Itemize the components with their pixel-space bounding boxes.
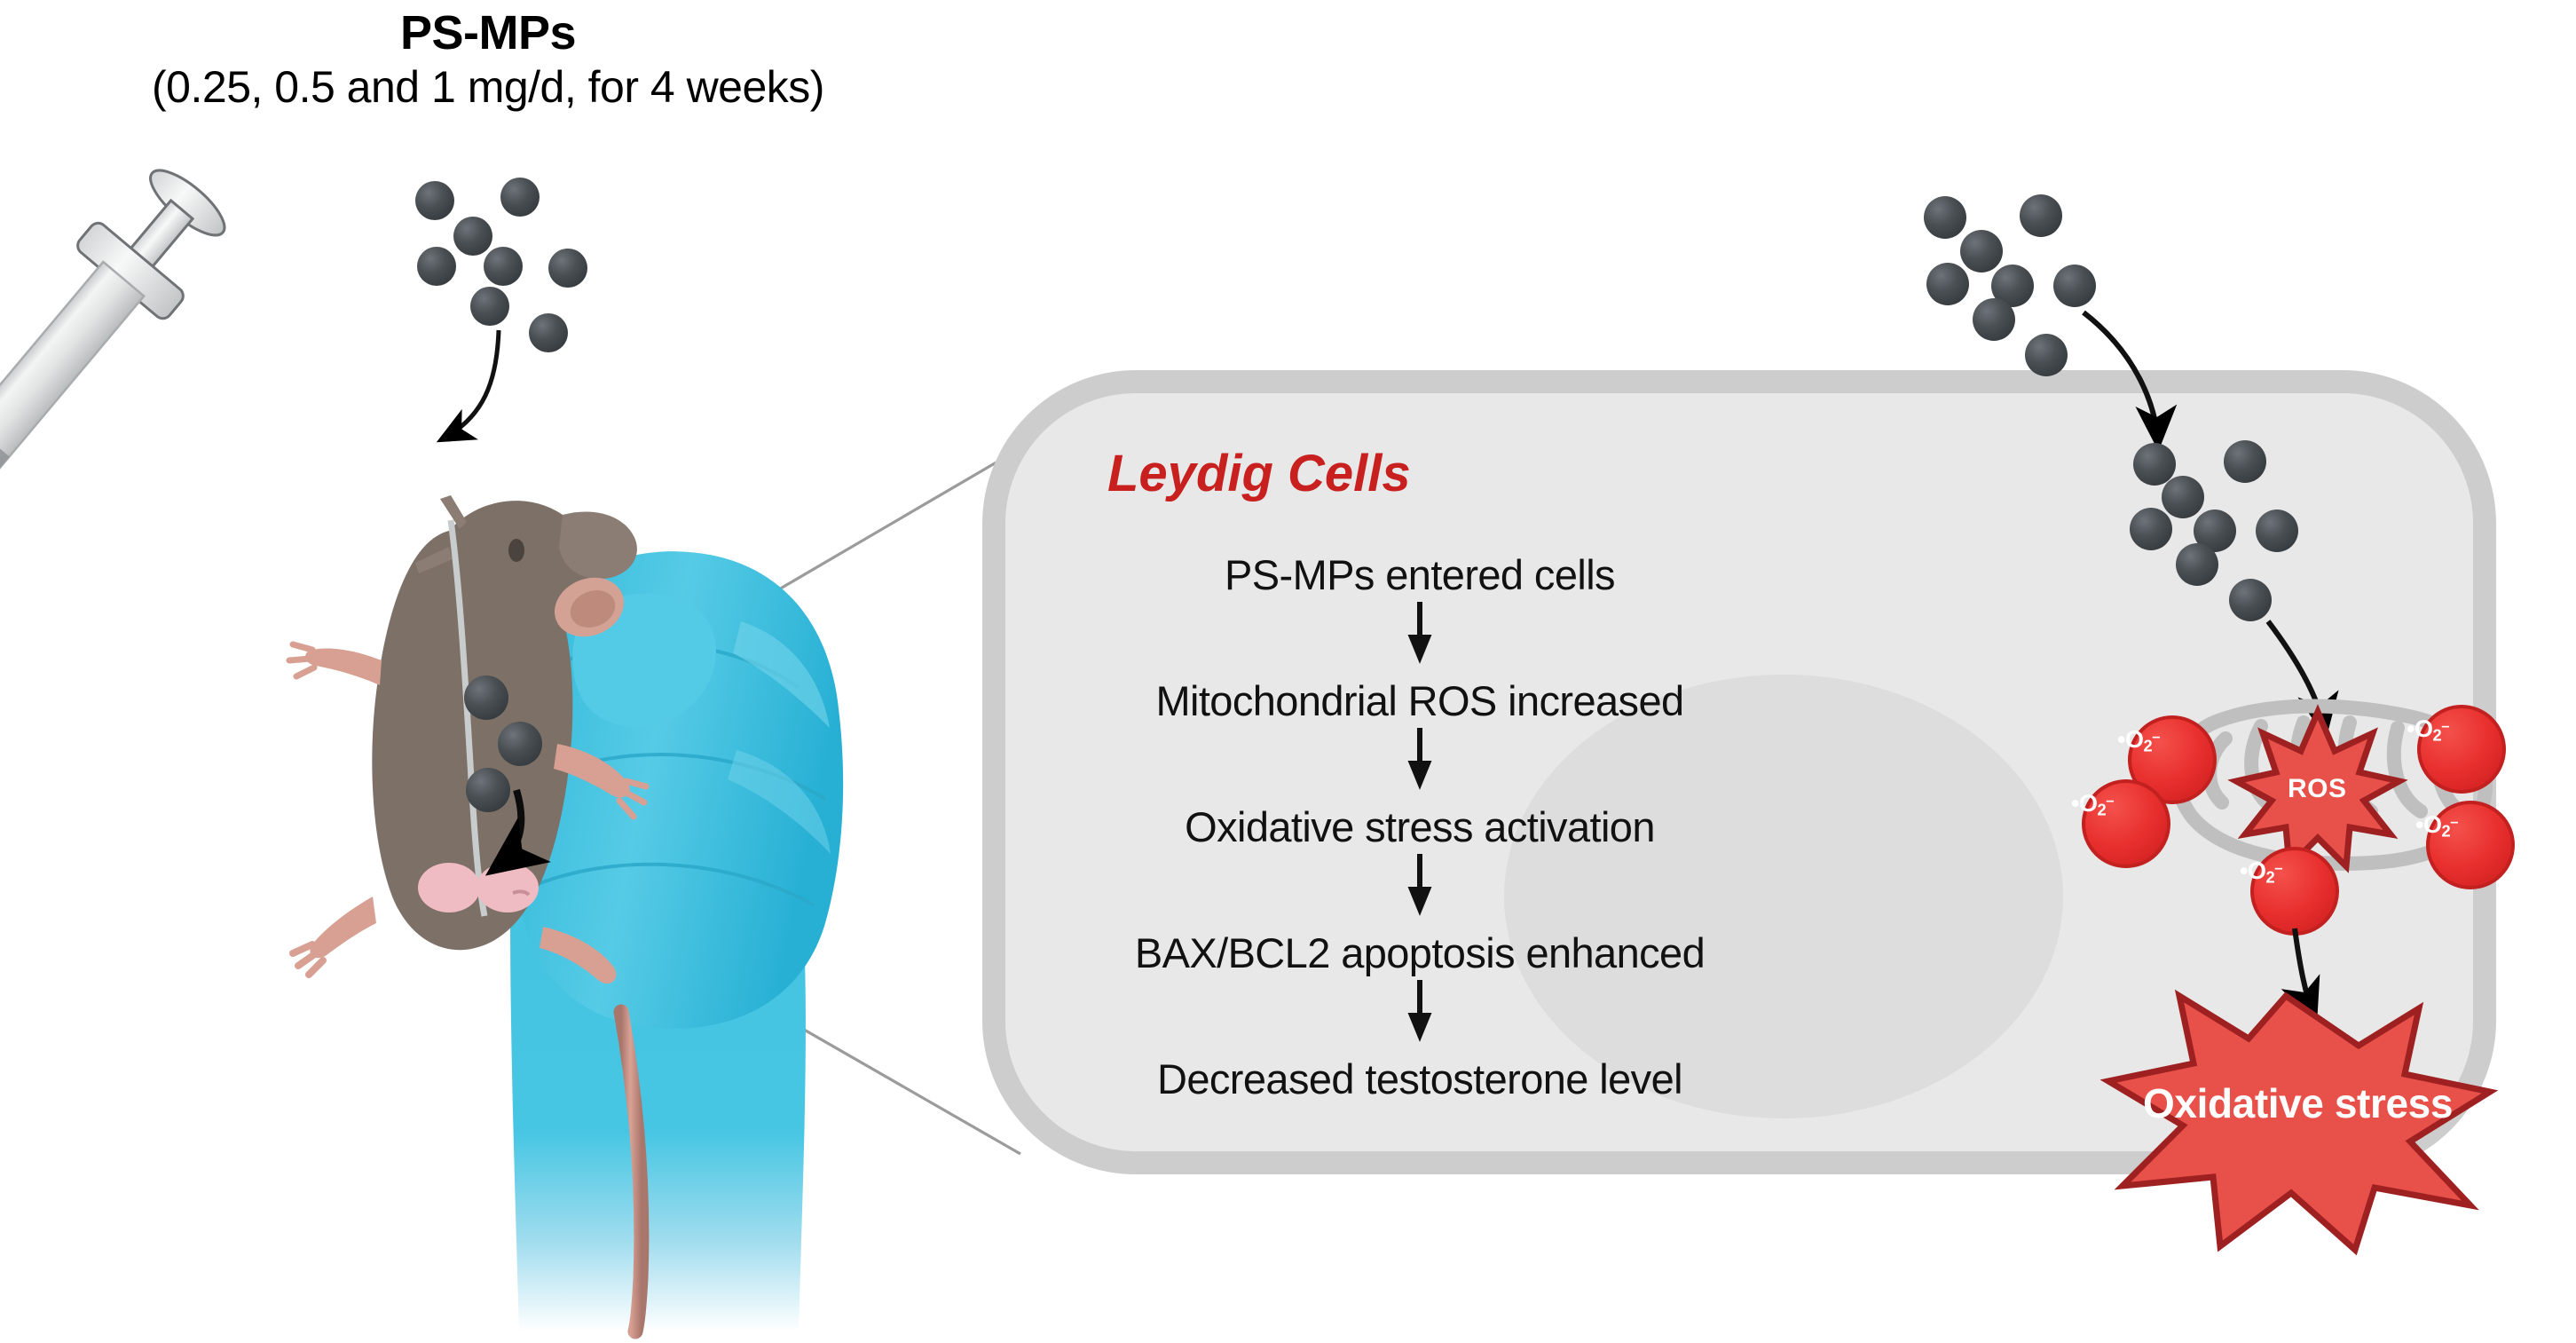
dose-arrow-left [442,330,499,439]
superoxide-radical-label: •O2– [2392,715,2463,746]
ps-mp-particle-cluster-left [415,178,587,352]
ros-label: ROS [2288,774,2347,804]
flow-arrows [1029,533,1810,1118]
superoxide-radical-label: •O2– [2103,726,2174,756]
superoxide-radical-label: •O2– [2057,790,2128,820]
ps-mp-particle-cluster-outside [1924,194,2096,376]
superoxide-radical-label: •O2– [2401,811,2472,841]
cell-type-label: Leydig Cells [1107,444,1411,503]
superoxide-radical-label: •O2– [2225,857,2296,888]
syringe-icon [0,152,243,596]
oxidative-stress-label: Oxidative stress [2143,1079,2453,1127]
figure-canvas: PS-MPs (0.25, 0.5 and 1 mg/d, for 4 week… [0,0,2576,1343]
